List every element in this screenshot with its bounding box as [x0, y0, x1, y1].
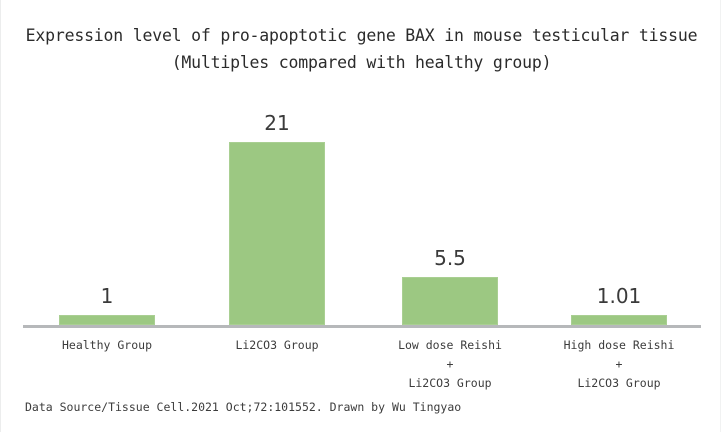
plot-area: 1 21 5.5 1.01 Healthy Group Li2CO3 Group…	[1, 0, 721, 432]
x-axis-label-line: Healthy Group	[27, 336, 187, 355]
bar-li2co3-group	[229, 142, 325, 325]
data-source-note: Data Source/Tissue Cell.2021 Oct;72:1015…	[25, 400, 461, 414]
chart-container: Expression level of pro-apoptotic gene B…	[0, 0, 721, 432]
bar-value-healthy-group: 1	[59, 284, 155, 308]
x-axis-label-line: Li2CO3 Group	[370, 374, 530, 393]
x-axis-label-li2co3-group: Li2CO3 Group	[197, 336, 357, 355]
x-axis-label-line: Li2CO3 Group	[539, 374, 699, 393]
bar-low-dose-reishi-li2co3-group	[402, 277, 498, 325]
x-axis-line	[23, 325, 701, 328]
bar-high-dose-reishi-li2co3-group	[571, 315, 667, 325]
x-axis-label-line: Low dose Reishi	[370, 336, 530, 355]
x-axis-label-line: High dose Reishi	[539, 336, 699, 355]
x-axis-label-healthy-group: Healthy Group	[27, 336, 187, 355]
x-axis-label-low-dose-reishi-li2co3-group: Low dose Reishi + Li2CO3 Group	[370, 336, 530, 393]
x-axis-label-high-dose-reishi-li2co3-group: High dose Reishi + Li2CO3 Group	[539, 336, 699, 393]
bar-value-low-dose-reishi-li2co3-group: 5.5	[402, 246, 498, 270]
bar-value-li2co3-group: 21	[229, 111, 325, 135]
x-axis-label-line: +	[539, 355, 699, 374]
x-axis-label-line: +	[370, 355, 530, 374]
bar-healthy-group	[59, 315, 155, 325]
bar-value-high-dose-reishi-li2co3-group: 1.01	[571, 284, 667, 308]
x-axis-label-line: Li2CO3 Group	[197, 336, 357, 355]
